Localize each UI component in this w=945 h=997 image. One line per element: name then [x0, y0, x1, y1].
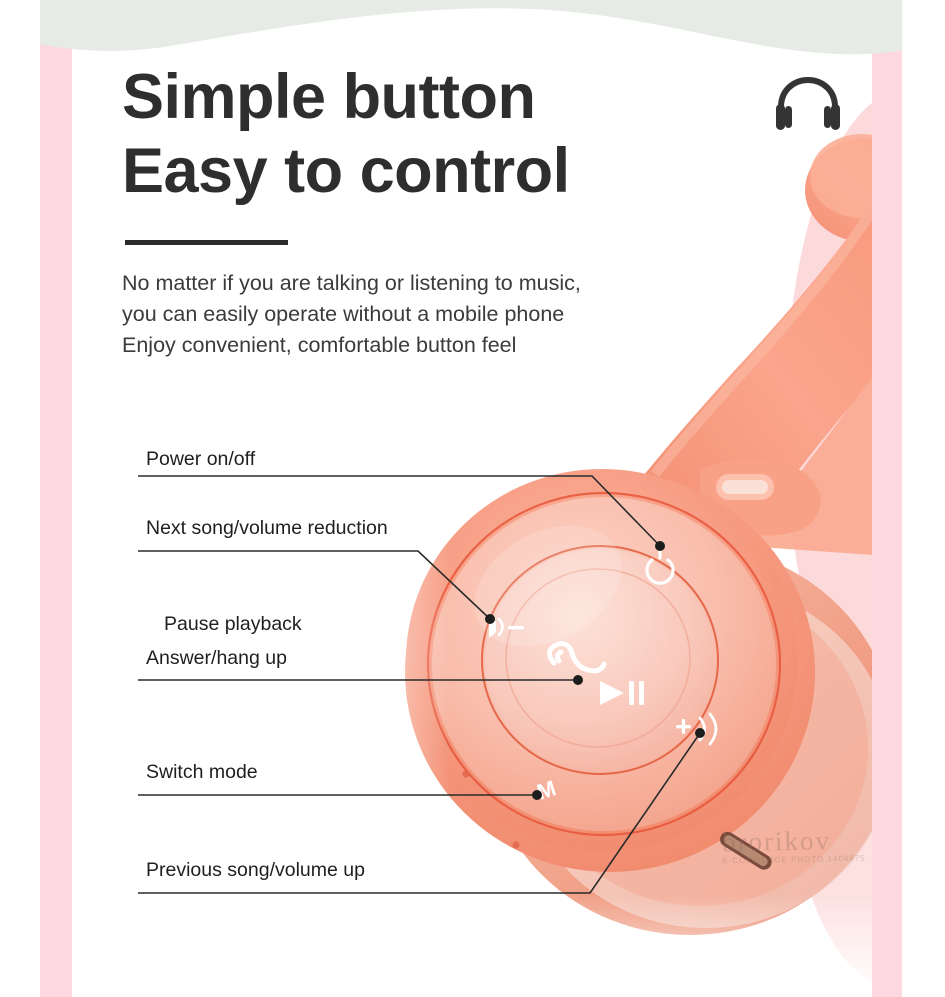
leader-dot-power	[655, 541, 665, 551]
product-infographic-page: M Simple button Easy to control	[0, 0, 945, 997]
leader-line-next-volume	[138, 551, 490, 619]
leader-dot-prev-volume	[695, 728, 705, 738]
callout-label-next-volume: Next song/volume reduction	[146, 515, 388, 542]
callout-label-switch-mode: Switch mode	[146, 759, 258, 786]
callout-leader-lines	[0, 0, 945, 997]
callout-label-prev-volume: Previous song/volume up	[146, 857, 365, 884]
callout-label-pause-playback: Pause playback	[146, 611, 302, 638]
callout-label-power: Power on/off	[146, 446, 255, 473]
leader-dot-switch-mode	[532, 790, 542, 800]
leader-dot-next-volume	[485, 614, 495, 624]
callout-label-answer-hangup: Answer/hang up	[146, 645, 287, 672]
leader-dot-pause-answer	[573, 675, 583, 685]
